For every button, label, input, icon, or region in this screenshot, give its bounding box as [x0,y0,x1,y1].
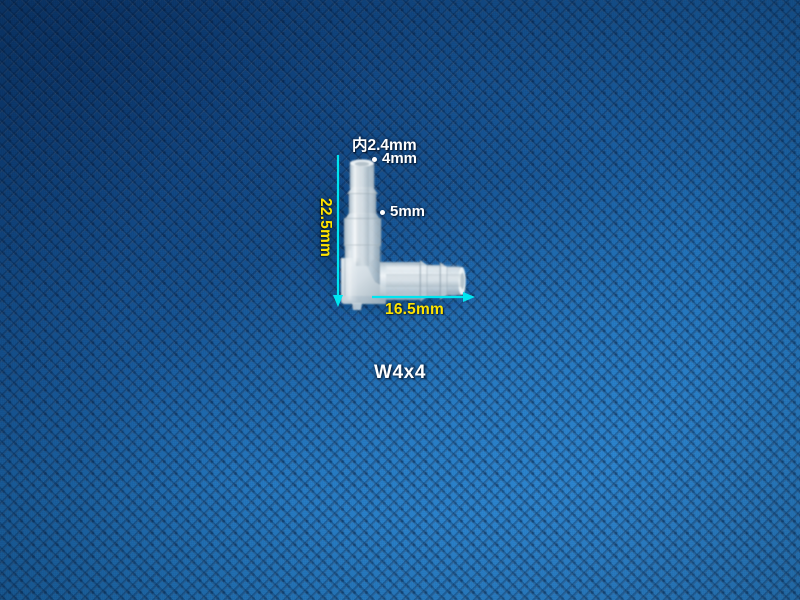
callout-bullet-4mm [372,157,377,162]
dimension-label-horizontal: 16.5mm [385,301,444,319]
model-code-label: W4x4 [0,362,800,384]
photo-vignette [0,0,800,600]
callout-outer-diameter-base: 5mm [390,203,425,220]
callout-outer-diameter-top: 4mm [382,150,417,167]
callout-bullet-5mm [380,210,385,215]
dimension-label-vertical: 22.5mm [316,198,334,257]
product-photo-canvas: 22.5mm 16.5mm 内2.4mm 4mm 5mm W4x4 [0,0,800,600]
